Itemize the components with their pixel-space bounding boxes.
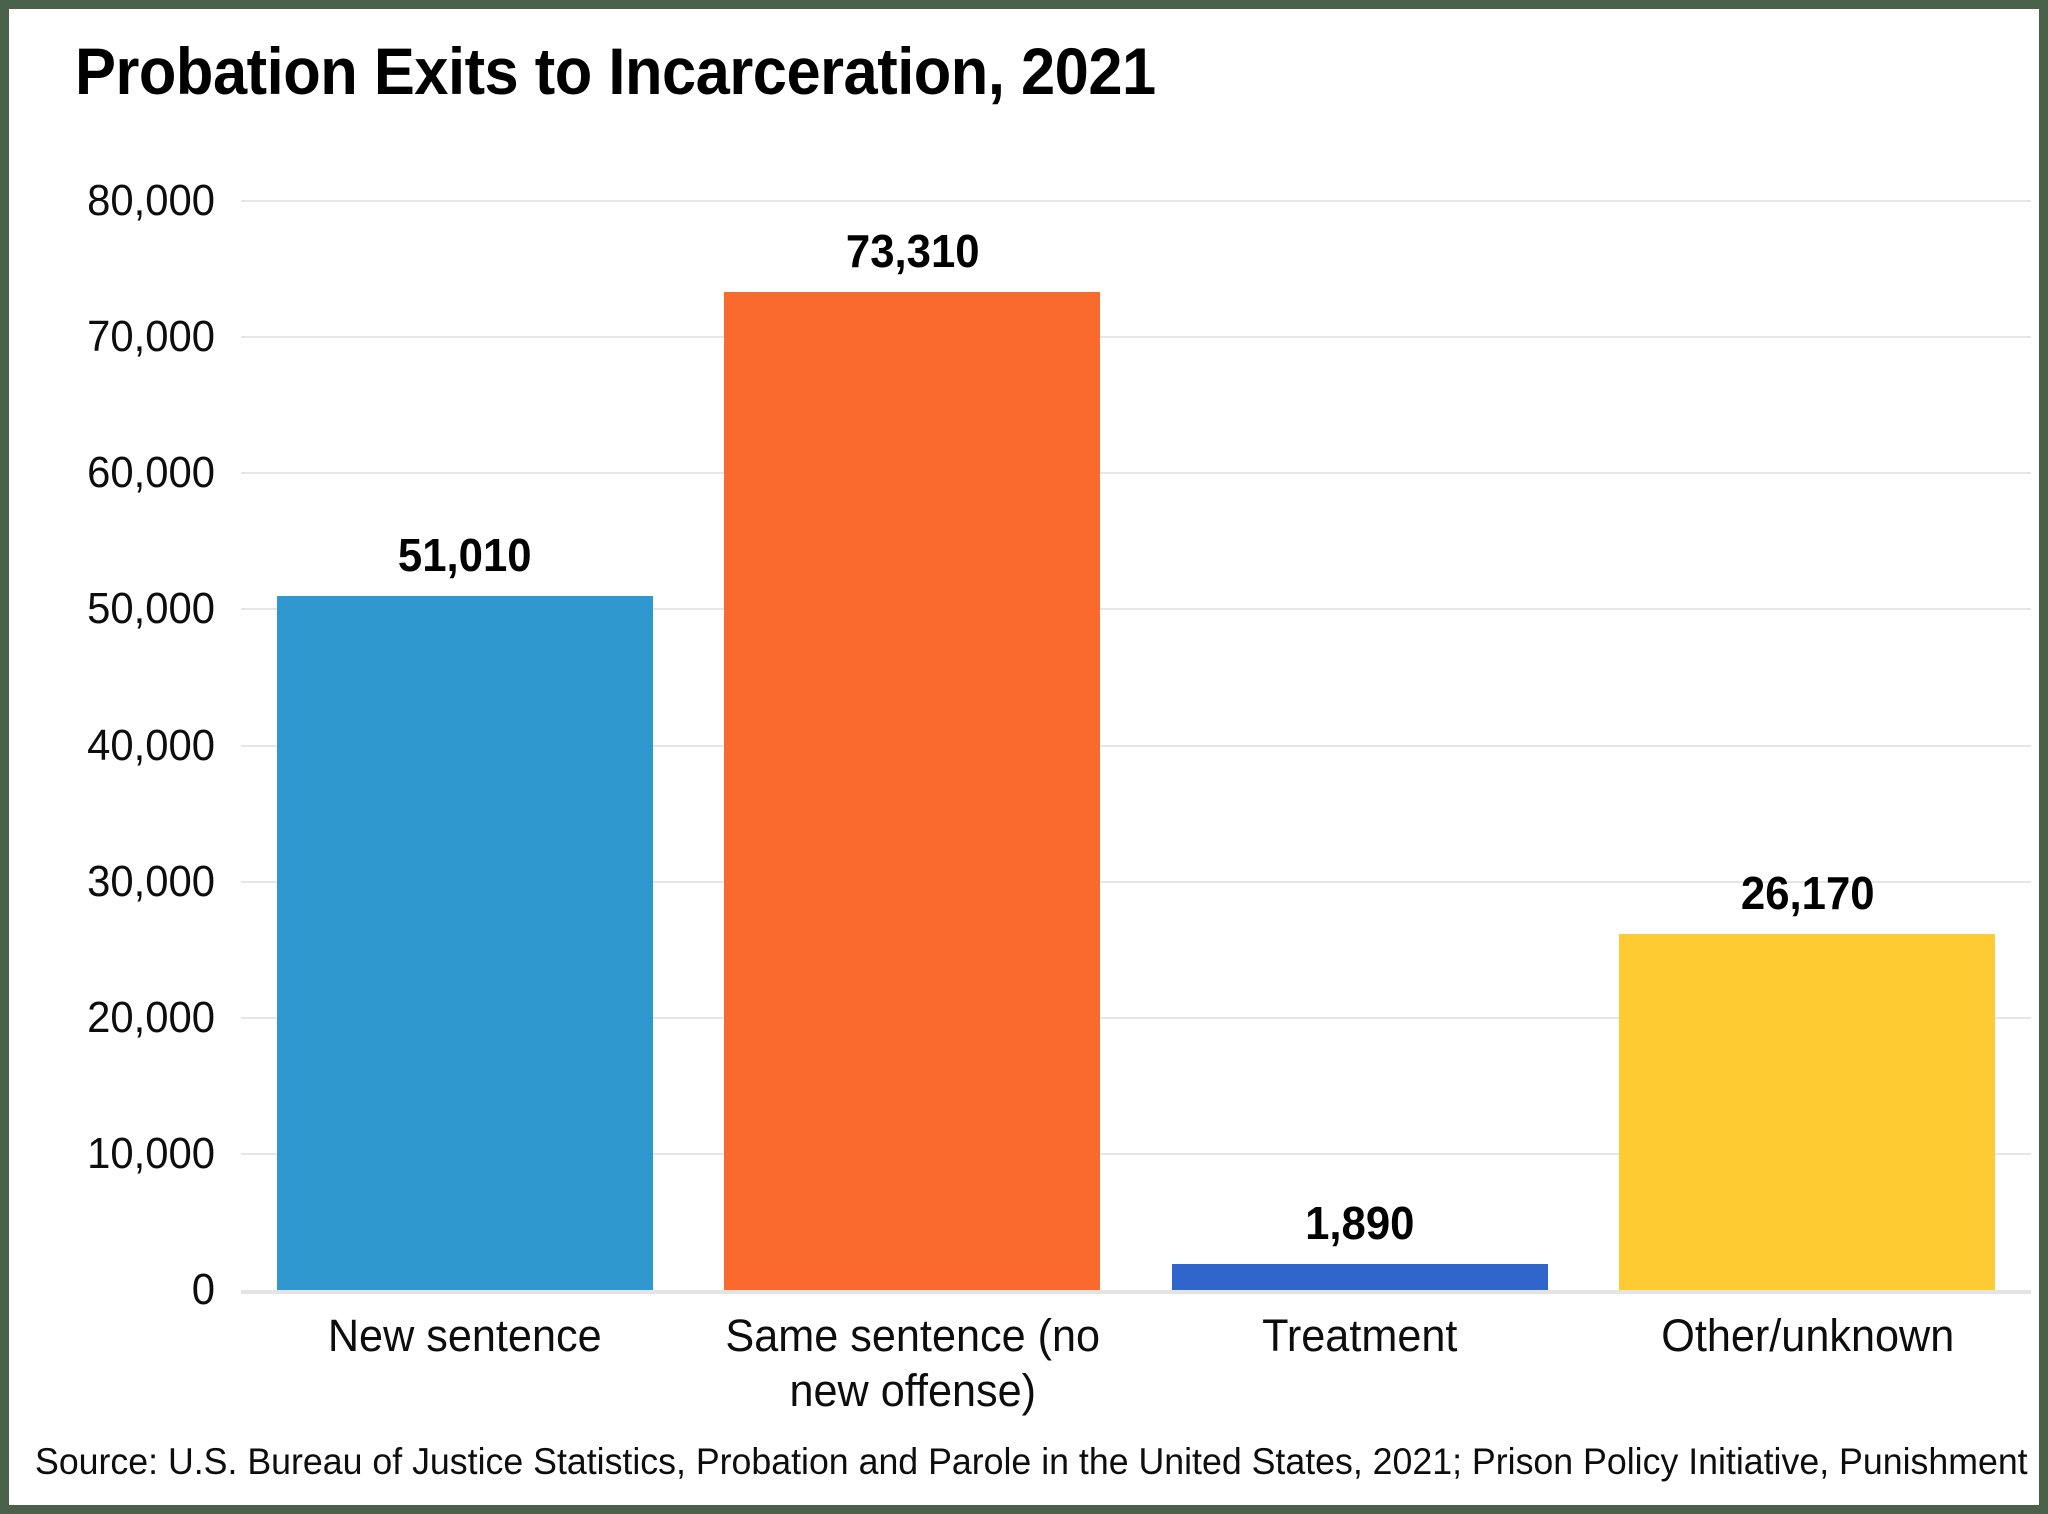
y-axis-tick-label: 50,000 [44,584,215,634]
bar[interactable] [277,596,653,1290]
bar-group: 26,170 [1584,201,2032,1290]
bar-value-label: 51,010 [252,528,677,582]
axis-baseline [241,1290,2031,1294]
chart-figure: Probation Exits to Incarceration, 2021 0… [0,0,2048,1514]
x-axis-category-label: New sentence [250,1309,680,1364]
bar[interactable] [1172,1264,1548,1290]
x-axis-category-label: Treatment [1145,1309,1575,1364]
x-axis-category-label: Same sentence (no new offense) [697,1309,1127,1419]
y-axis-tick-label: 60,000 [44,448,215,498]
y-axis-tick-label: 70,000 [44,312,215,362]
bar-value-label: 1,890 [1147,1196,1572,1250]
bar-group: 51,010 [241,201,689,1290]
y-axis-tick-label: 40,000 [44,721,215,771]
x-axis-category-label: Other/unknown [1592,1309,2022,1364]
y-axis: 010,00020,00030,00040,00050,00060,00070,… [35,201,215,1290]
bar[interactable] [1619,934,1995,1290]
bar-value-label: 26,170 [1595,866,2020,920]
bar-group: 73,310 [689,201,1137,1290]
bar-value-label: 73,310 [700,224,1125,278]
bar-series: 51,01073,3101,89026,170 [241,201,2031,1290]
y-axis-tick-label: 30,000 [44,857,215,907]
y-axis-tick-label: 10,000 [44,1129,215,1179]
chart-title: Probation Exits to Incarceration, 2021 [75,33,1156,109]
y-axis-tick-label: 20,000 [44,993,215,1043]
bar[interactable] [724,292,1100,1290]
y-axis-tick-label: 80,000 [44,176,215,226]
source-note: Source: U.S. Bureau of Justice Statistic… [35,1441,1953,1483]
bar-group: 1,890 [1136,201,1584,1290]
y-axis-tick-label: 0 [44,1265,215,1315]
